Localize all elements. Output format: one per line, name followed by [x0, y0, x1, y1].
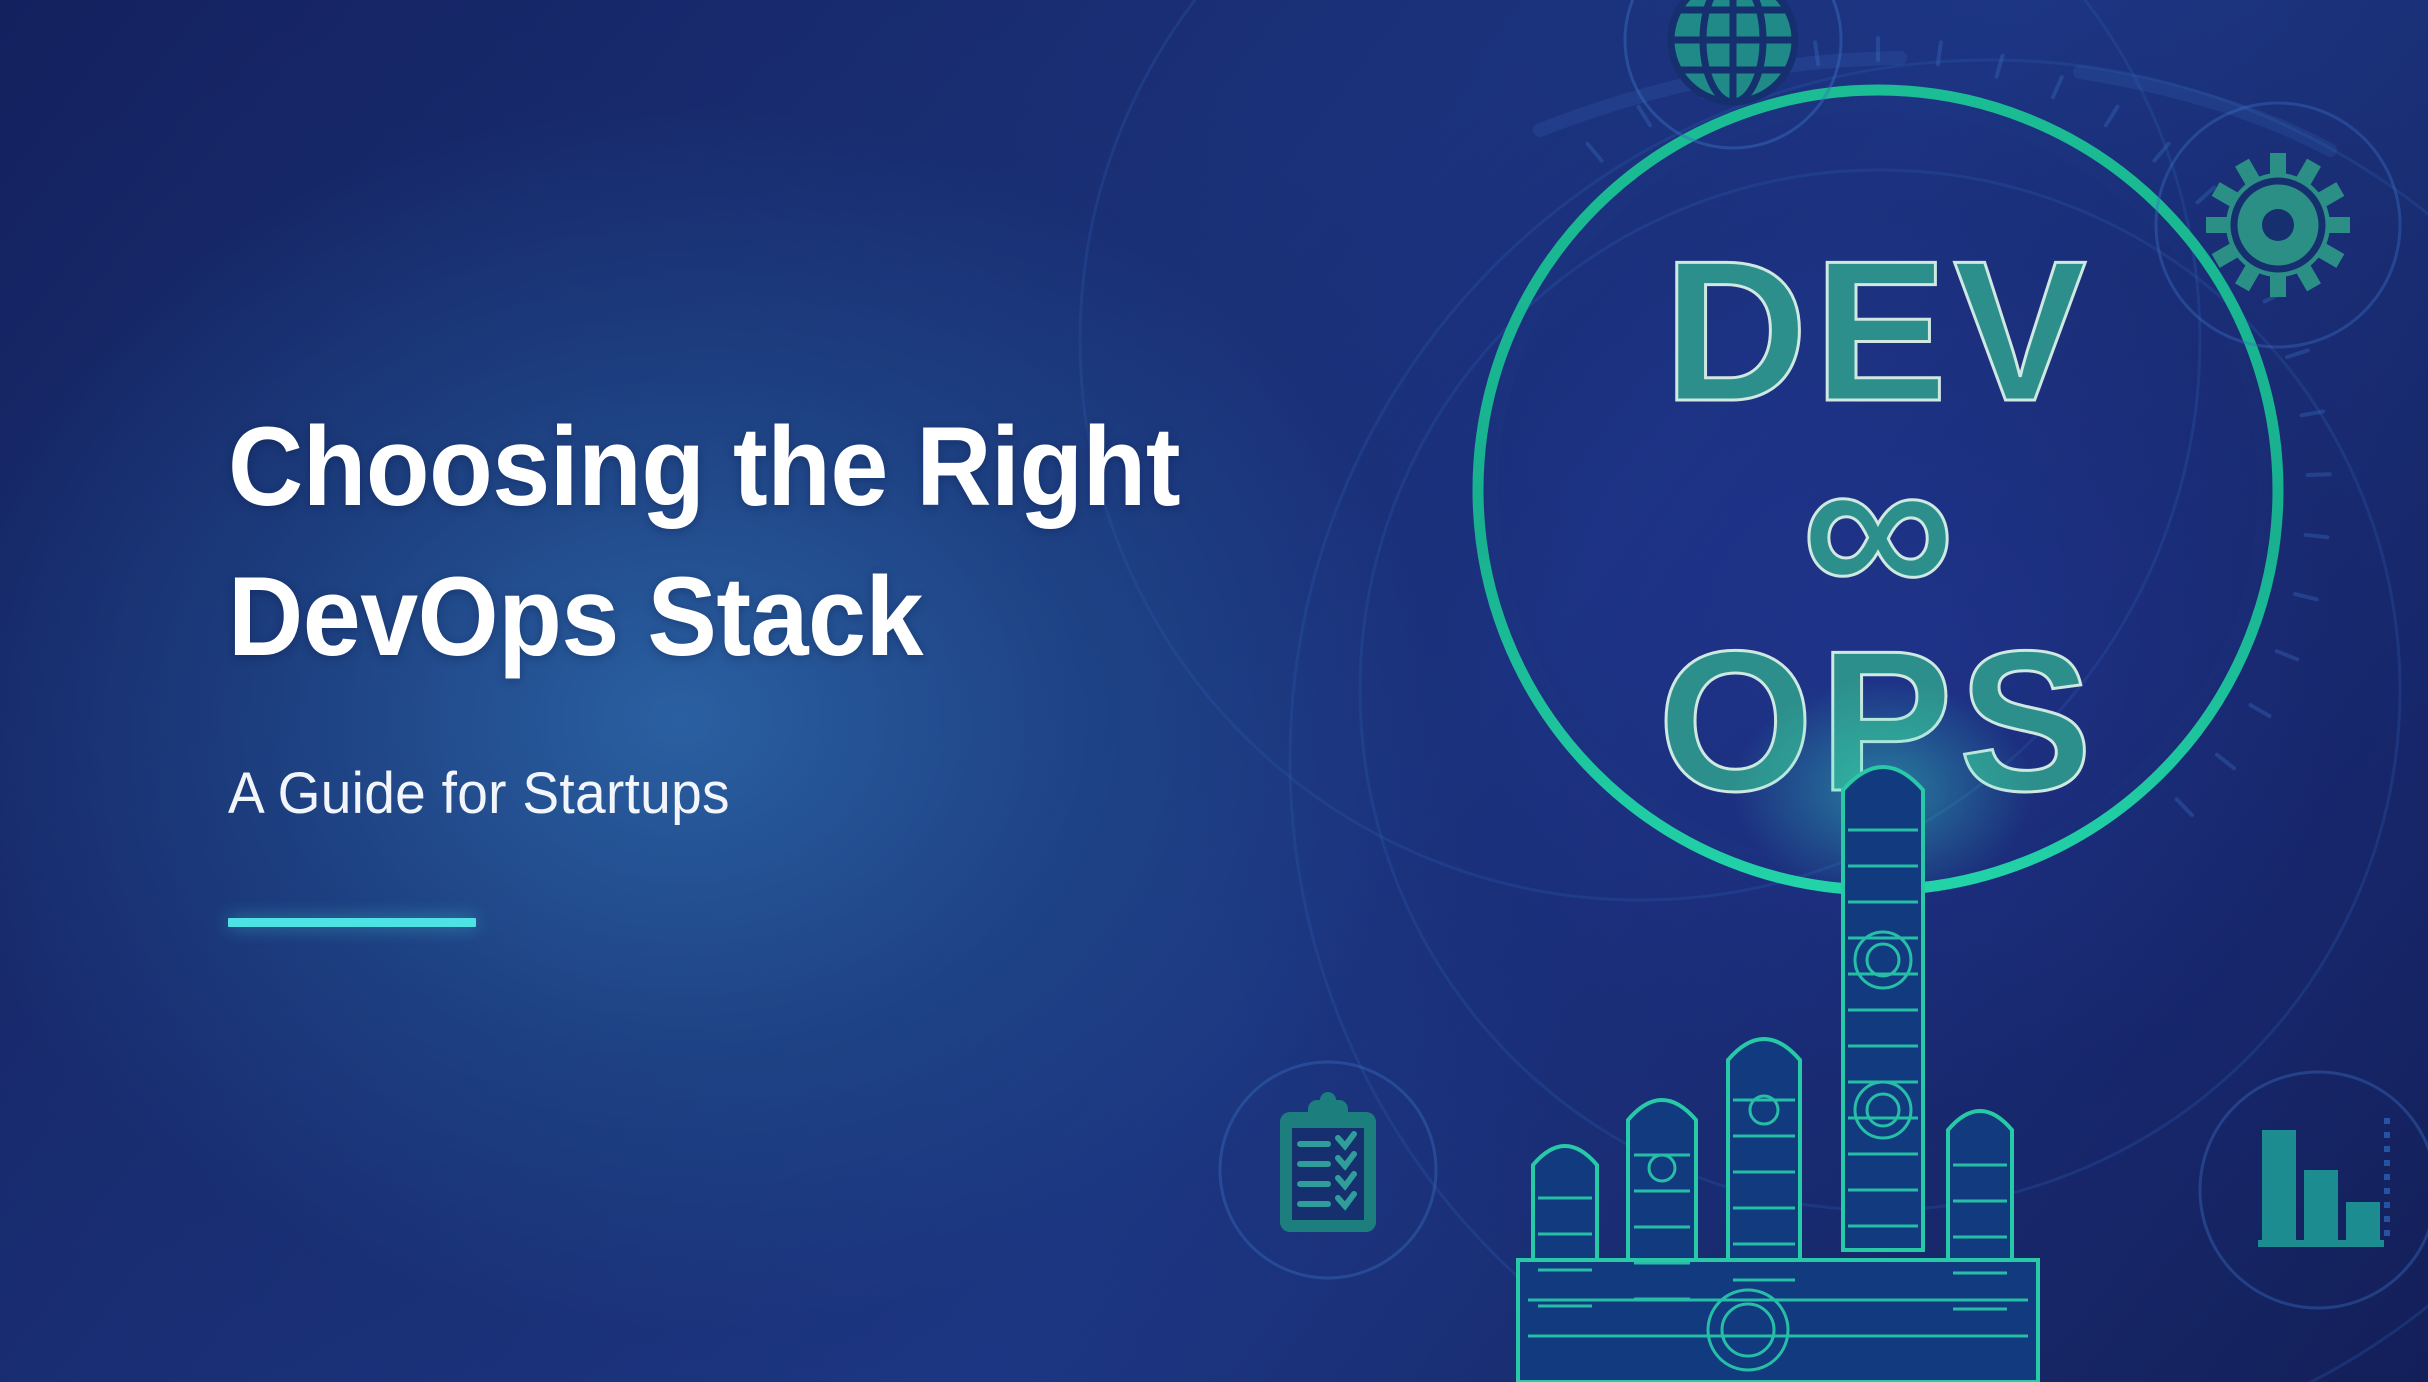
title-text-block: Choosing the Right DevOps Stack A Guide … — [228, 392, 1288, 927]
page-subtitle: A Guide for Startups — [228, 758, 1235, 830]
bar-chart-icon — [2258, 1130, 2384, 1247]
accent-underline — [228, 918, 476, 927]
orbit-icon-bar-chart — [2200, 1072, 2428, 1308]
devops-graphic: DEV ∞ OPS — [1188, 0, 2428, 1382]
title-slide: Choosing the Right DevOps Stack A Guide … — [0, 0, 2428, 1382]
orbit-icon-clipboard — [1220, 1062, 1436, 1278]
page-title: Choosing the Right DevOps Stack — [228, 392, 1214, 692]
